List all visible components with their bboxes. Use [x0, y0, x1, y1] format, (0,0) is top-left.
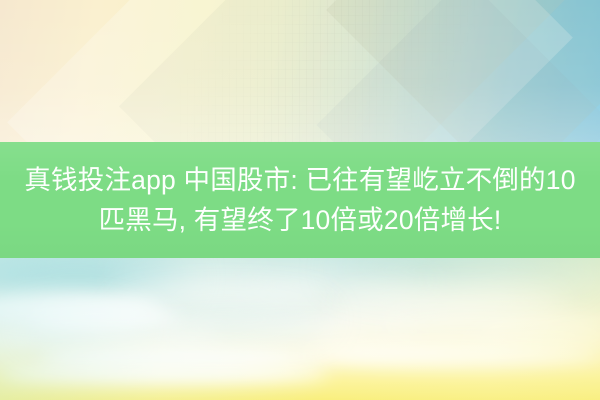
caption-line-2: 匹黑马, 有望终了10倍或20倍增长!: [0, 200, 600, 240]
vertical-light-overlay: [0, 0, 600, 142]
cloud-sky-photo: [0, 258, 600, 400]
horizontal-light-overlay: [0, 258, 600, 400]
caption-line-1: 真钱投注app 中国股市: 已往有望屹立不倒的10: [0, 160, 600, 200]
caption-banner: 真钱投注app 中国股市: 已往有望屹立不倒的10 匹黑马, 有望终了10倍或2…: [0, 142, 600, 258]
abstract-gradient-graphic: [0, 0, 600, 142]
caption-text: 真钱投注app 中国股市: 已往有望屹立不倒的10 匹黑马, 有望终了10倍或2…: [0, 160, 600, 240]
banner-screenshot: 真钱投注app 中国股市: 已往有望屹立不倒的10 匹黑马, 有望终了10倍或2…: [0, 0, 600, 400]
